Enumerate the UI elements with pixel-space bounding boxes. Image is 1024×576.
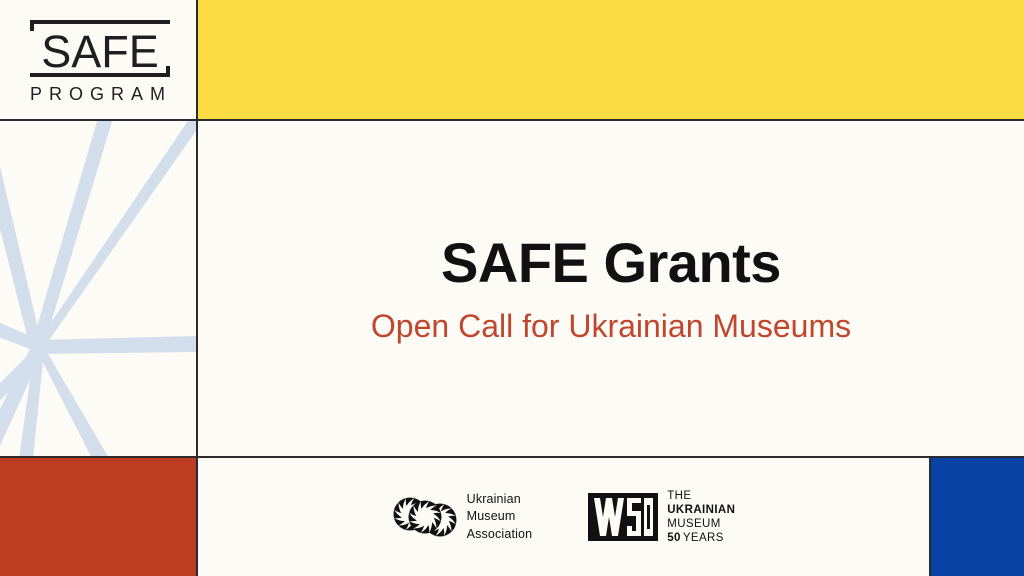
uma-line-2: Museum — [467, 508, 533, 525]
tum-line-the: THE — [667, 489, 735, 503]
logo-frame-top — [30, 20, 170, 24]
page-title: SAFE Grants — [441, 232, 781, 294]
slide-canvas: SAFE PROGRAM SAFE Grants Open Call for U… — [0, 0, 1024, 576]
partner-logo-ukrainian-museum-association: Ukrainian Museum Association — [392, 491, 533, 543]
headline-area: SAFE Grants Open Call for Ukrainian Muse… — [198, 121, 1024, 456]
safe-wordmark: SAFE — [41, 26, 159, 77]
sunburst-ray — [0, 121, 42, 347]
logo-frame-top-left-tick — [30, 20, 34, 31]
partner-name-the-ukrainian-museum: THE UKRAINIAN MUSEUM 50 YEARS — [667, 489, 735, 545]
tum-line-ukrainian: UKRAINIAN — [667, 503, 735, 517]
tum-line-museum: MUSEUM — [667, 517, 735, 531]
tum-line-years-row: 50 YEARS — [667, 531, 735, 545]
page-subtitle: Open Call for Ukrainian Museums — [371, 307, 851, 345]
sunburst-ray — [36, 347, 110, 456]
grid-rule-vertical-right — [929, 456, 931, 576]
uma-line-3: Association — [467, 526, 533, 543]
w50-block-icon — [588, 493, 658, 541]
uma-line-1: Ukrainian — [467, 491, 533, 508]
spiral-pinwheel-icon — [392, 494, 458, 540]
tum-50: 50 — [667, 531, 681, 545]
yellow-color-block — [198, 0, 1024, 120]
tum-years: YEARS — [683, 531, 724, 545]
partner-logo-the-ukrainian-museum: THE UKRAINIAN MUSEUM 50 YEARS — [588, 489, 735, 545]
logo-frame-bottom-right-tick — [166, 66, 170, 77]
blue-color-block — [931, 458, 1024, 576]
safe-program-logo: SAFE PROGRAM — [24, 16, 176, 106]
sunburst-decoration — [0, 121, 196, 456]
red-color-block — [0, 458, 197, 576]
sunburst-ray — [37, 336, 196, 354]
sunburst-ray — [31, 121, 114, 349]
program-tagline: PROGRAM — [30, 84, 172, 104]
sunburst-ray — [33, 121, 196, 353]
partner-name-uma: Ukrainian Museum Association — [467, 491, 533, 543]
partner-logo-row: Ukrainian Museum Association — [198, 458, 929, 576]
